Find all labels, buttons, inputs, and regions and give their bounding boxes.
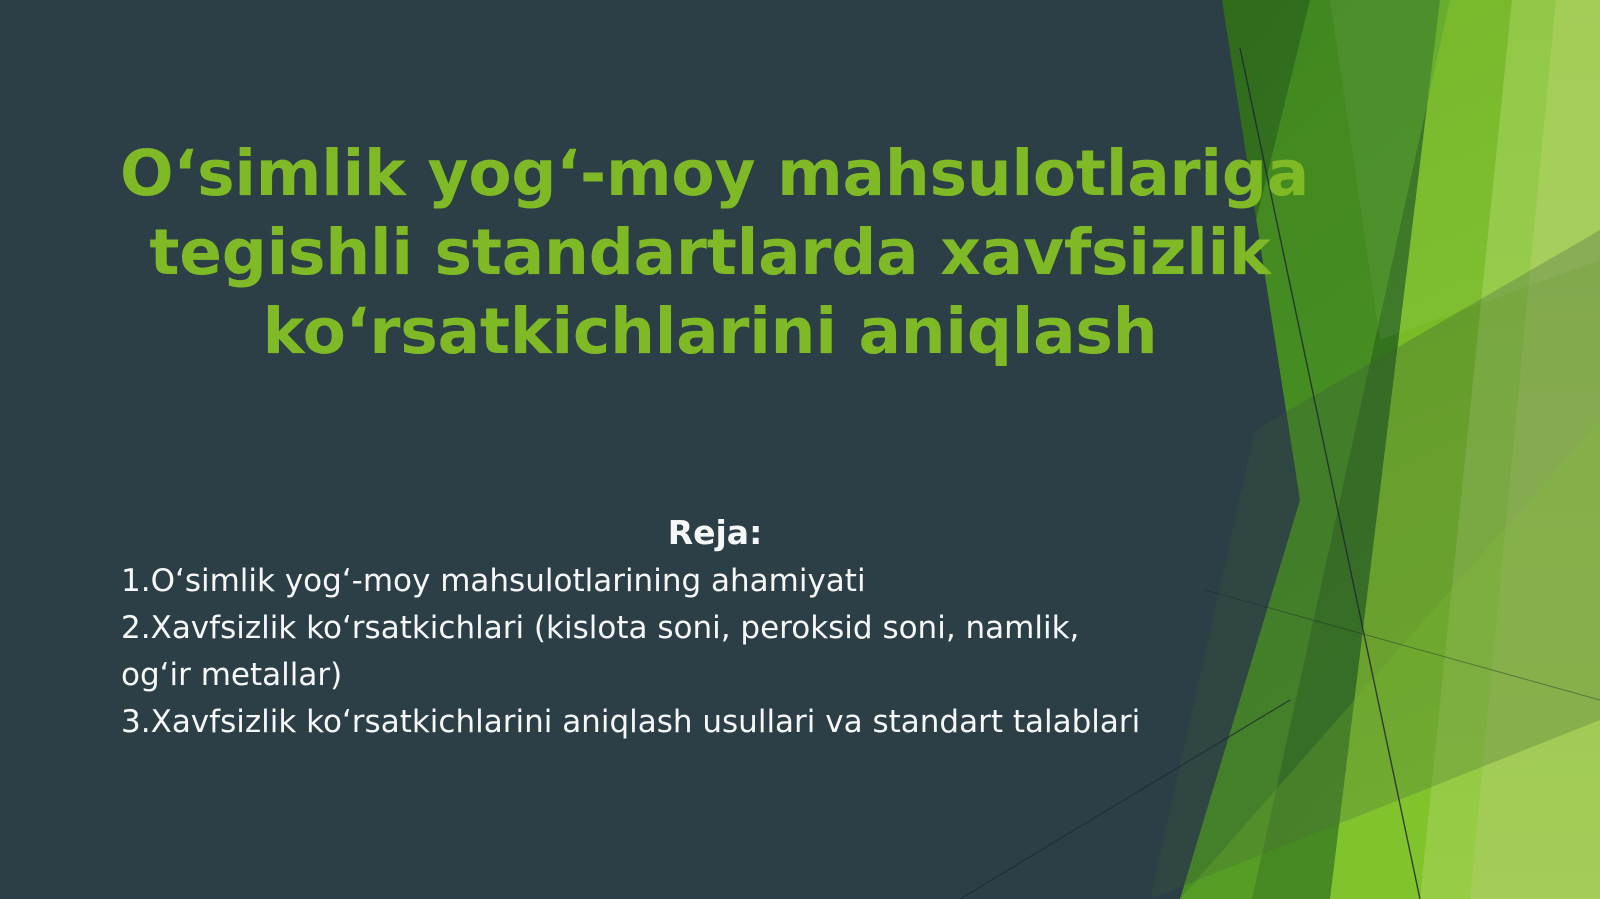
title-line-1: O‘simlik yog‘-moy mahsulotlariga <box>120 134 1300 213</box>
plan-list-item-2-continued: og‘ir metallar) <box>121 652 1441 699</box>
presentation-slide: O‘simlik yog‘-moy mahsulotlariga tegishl… <box>0 0 1600 899</box>
page-title: O‘simlik yog‘-moy mahsulotlariga tegishl… <box>120 134 1300 371</box>
plan-list-item-1: 1.O‘simlik yog‘-moy mahsulotlarining aha… <box>121 558 1441 605</box>
plan-list-item-2: 2.Xavfsizlik ko‘rsatkichlari (kislota so… <box>121 605 1441 652</box>
plan-list-item-3: 3.Xavfsizlik ko‘rsatkichlarini aniqlash … <box>121 699 1441 746</box>
plan-heading: Reja: <box>120 512 1310 554</box>
slide-content-layer: O‘simlik yog‘-moy mahsulotlariga tegishl… <box>0 0 1600 899</box>
title-line-3: ko‘rsatkichlarini aniqlash <box>120 292 1300 371</box>
title-line-2: tegishli standartlarda xavfsizlik <box>120 213 1300 292</box>
plan-list: 1.O‘simlik yog‘-moy mahsulotlarining aha… <box>121 558 1441 746</box>
